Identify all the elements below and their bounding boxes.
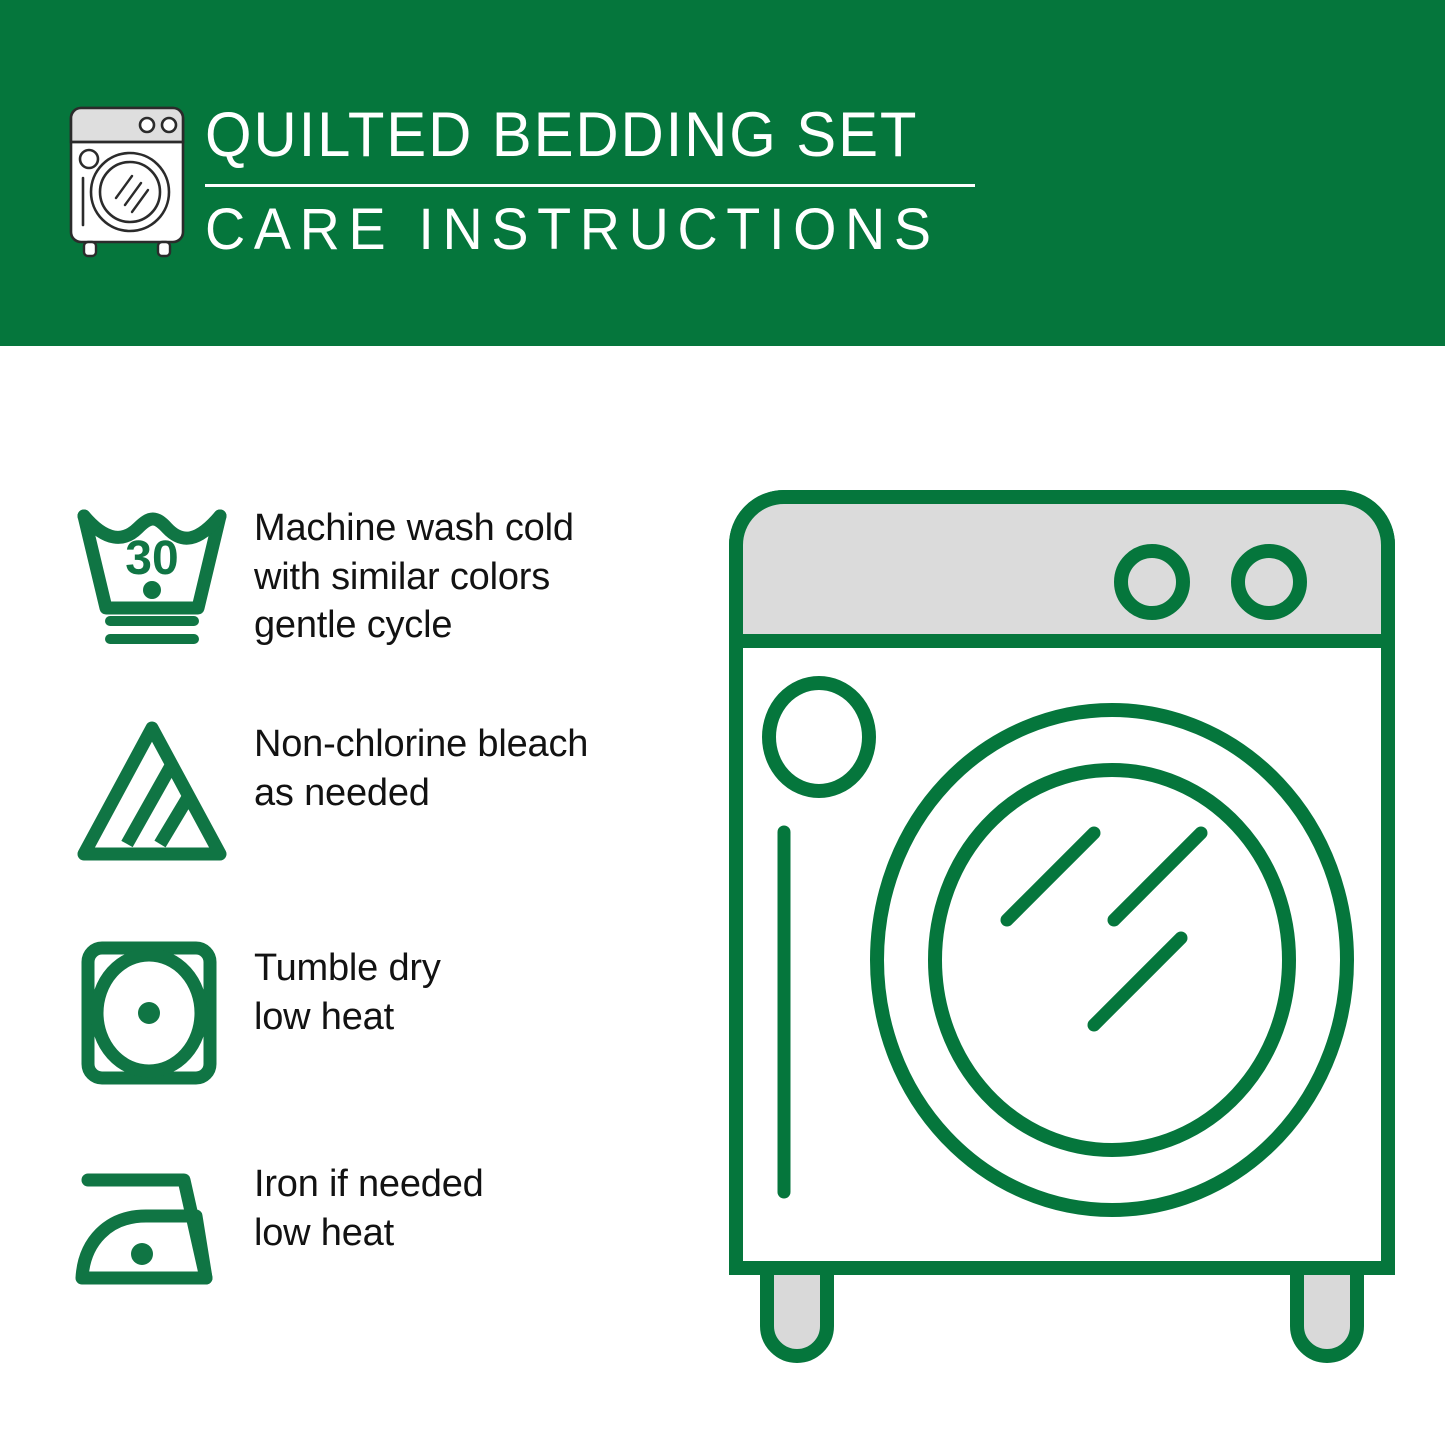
tumble-dry-low-icon [72,938,232,1088]
care-text-iron: Iron if needed low heat [232,1154,484,1257]
washing-machine-icon [62,100,192,258]
care-row-bleach: Non-chlorine bleach as needed [72,714,692,864]
non-chlorine-bleach-triangle-icon [72,714,232,864]
iron-low-heat-icon [72,1154,232,1304]
care-row-tumble-dry: Tumble dry low heat [72,938,692,1088]
knob-right [1238,551,1300,613]
care-instructions-graphic: QUILTED BEDDING SET CARE INSTRUCTIONS 30 [0,0,1445,1445]
care-row-machine-wash: 30 Machine wash cold with similar colors… [72,498,692,650]
detergent-port [769,683,869,791]
front-load-washing-machine-illustration [712,470,1412,1370]
door-inner-ring [935,770,1289,1150]
page-subtitle: CARE INSTRUCTIONS [205,201,963,259]
care-text-machine-wash: Machine wash cold with similar colors ge… [232,498,574,650]
wash-tub-30-icon: 30 [72,498,232,648]
header-banner: QUILTED BEDDING SET CARE INSTRUCTIONS [0,0,1445,346]
leg-right [1297,1268,1357,1356]
page-title: QUILTED BEDDING SET [205,104,956,167]
title-divider [205,184,975,187]
care-row-iron: Iron if needed low heat [72,1154,692,1304]
knob-left [1121,551,1183,613]
header-text-block: QUILTED BEDDING SET CARE INSTRUCTIONS [205,104,995,259]
care-text-tumble-dry: Tumble dry low heat [232,938,441,1041]
care-text-bleach: Non-chlorine bleach as needed [232,714,588,817]
leg-left [767,1268,827,1356]
svg-text:30: 30 [125,532,178,585]
